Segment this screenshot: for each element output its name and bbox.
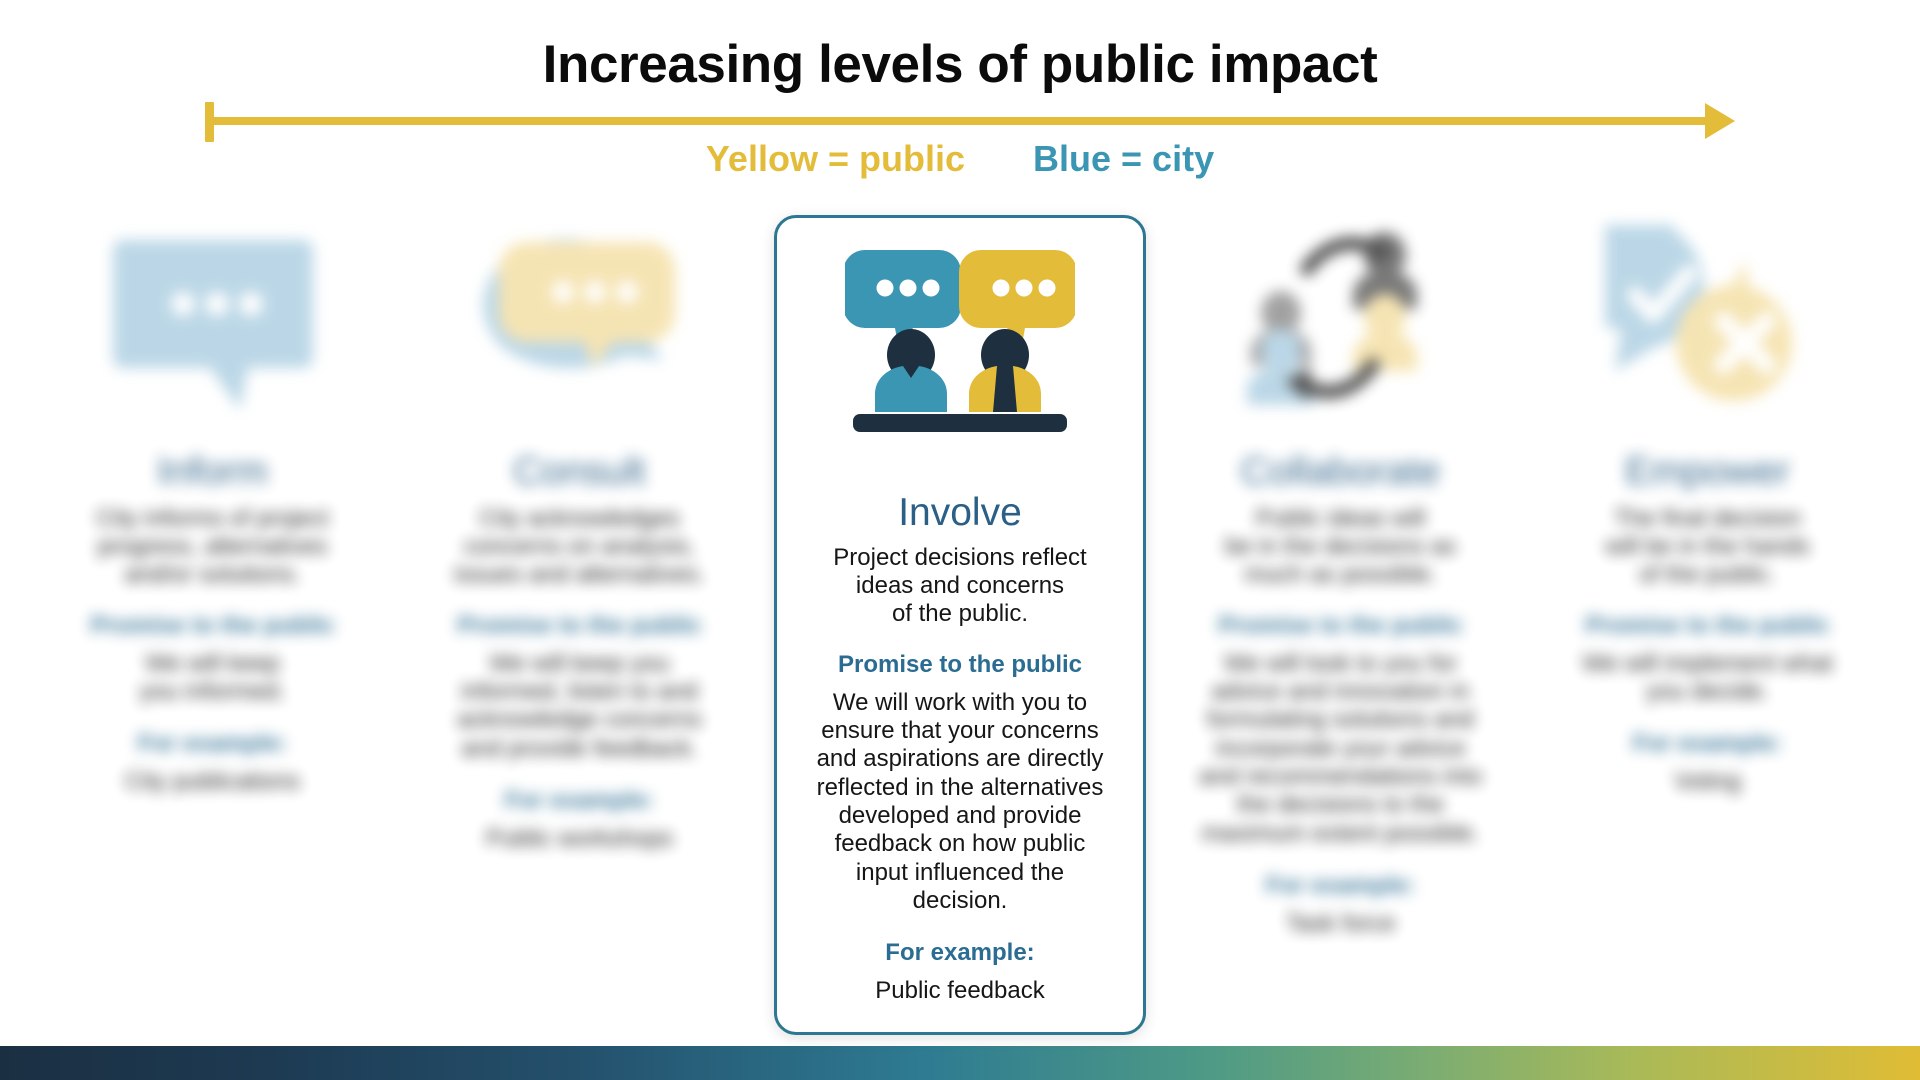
promise-body: We will implement what you decide.	[1582, 650, 1832, 707]
column-title: Involve	[898, 491, 1022, 536]
example-body: City publications	[125, 768, 300, 796]
page-title: Increasing levels of public impact	[0, 36, 1920, 94]
example-heading: For example:	[505, 787, 654, 815]
column-title: Inform	[157, 450, 268, 495]
example-heading: For example:	[885, 939, 1034, 967]
promise-heading: Promise to the public	[1218, 612, 1462, 640]
people-cycle-arrows-icon	[1168, 215, 1513, 430]
column-empower[interactable]: Empower The final decision will be in th…	[1535, 215, 1880, 797]
promise-heading: Promise to the public	[90, 612, 334, 640]
example-body: Voting	[1674, 768, 1741, 796]
column-description: City informs of project progress, altern…	[96, 505, 328, 590]
legend-blue-label: Blue = city	[1033, 138, 1214, 179]
column-description: The final decision will be in the hands …	[1605, 505, 1809, 590]
promise-heading: Promise to the public	[457, 612, 701, 640]
speech-bubble-icon	[40, 215, 385, 430]
column-consult[interactable]: Consult City acknowledges concerns on an…	[407, 215, 752, 853]
example-heading: For example:	[1266, 872, 1415, 900]
column-title: Collaborate	[1241, 450, 1440, 495]
example-body: Task force	[1286, 910, 1395, 938]
column-description: City acknowledges concerns on analysis, …	[454, 505, 705, 590]
promise-body: We will keep you informed.	[140, 650, 285, 707]
column-title: Consult	[513, 450, 645, 495]
column-collaborate[interactable]: Collaborate Public ideas will be in the …	[1168, 215, 1513, 938]
arrow-head-icon	[1705, 103, 1735, 139]
example-body: Public workshops	[486, 825, 673, 853]
legend-yellow-label: Yellow = public	[706, 138, 965, 179]
gradient-footer-bar	[0, 1046, 1920, 1080]
promise-body: We will look to you for advice and innov…	[1199, 650, 1482, 848]
promise-body: We will work with you to ensure that you…	[817, 689, 1104, 916]
spectrum-columns: Inform City informs of project progress,…	[0, 215, 1920, 1045]
column-inform[interactable]: Inform City informs of project progress,…	[40, 215, 385, 797]
example-heading: For example:	[138, 730, 287, 758]
two-people-talking-icon	[797, 234, 1123, 449]
column-title: Empower	[1625, 450, 1790, 495]
check-and-cross-bubbles-icon	[1535, 215, 1880, 430]
example-body: Public feedback	[875, 977, 1044, 1005]
legend: Yellow = public Blue = city	[0, 138, 1920, 180]
promise-heading: Promise to the public	[1585, 612, 1829, 640]
column-description: Public ideas will be in the decisions as…	[1225, 505, 1456, 590]
speech-bubbles-overlap-icon	[407, 215, 752, 430]
column-involve[interactable]: Involve Project decisions reflect ideas …	[774, 215, 1146, 1035]
example-heading: For example:	[1633, 730, 1782, 758]
promise-heading: Promise to the public	[838, 651, 1082, 679]
arrow-shaft	[205, 117, 1705, 125]
promise-body: We will keep you informed, listen to and…	[457, 650, 701, 763]
column-description: Project decisions reflect ideas and conc…	[833, 544, 1086, 629]
